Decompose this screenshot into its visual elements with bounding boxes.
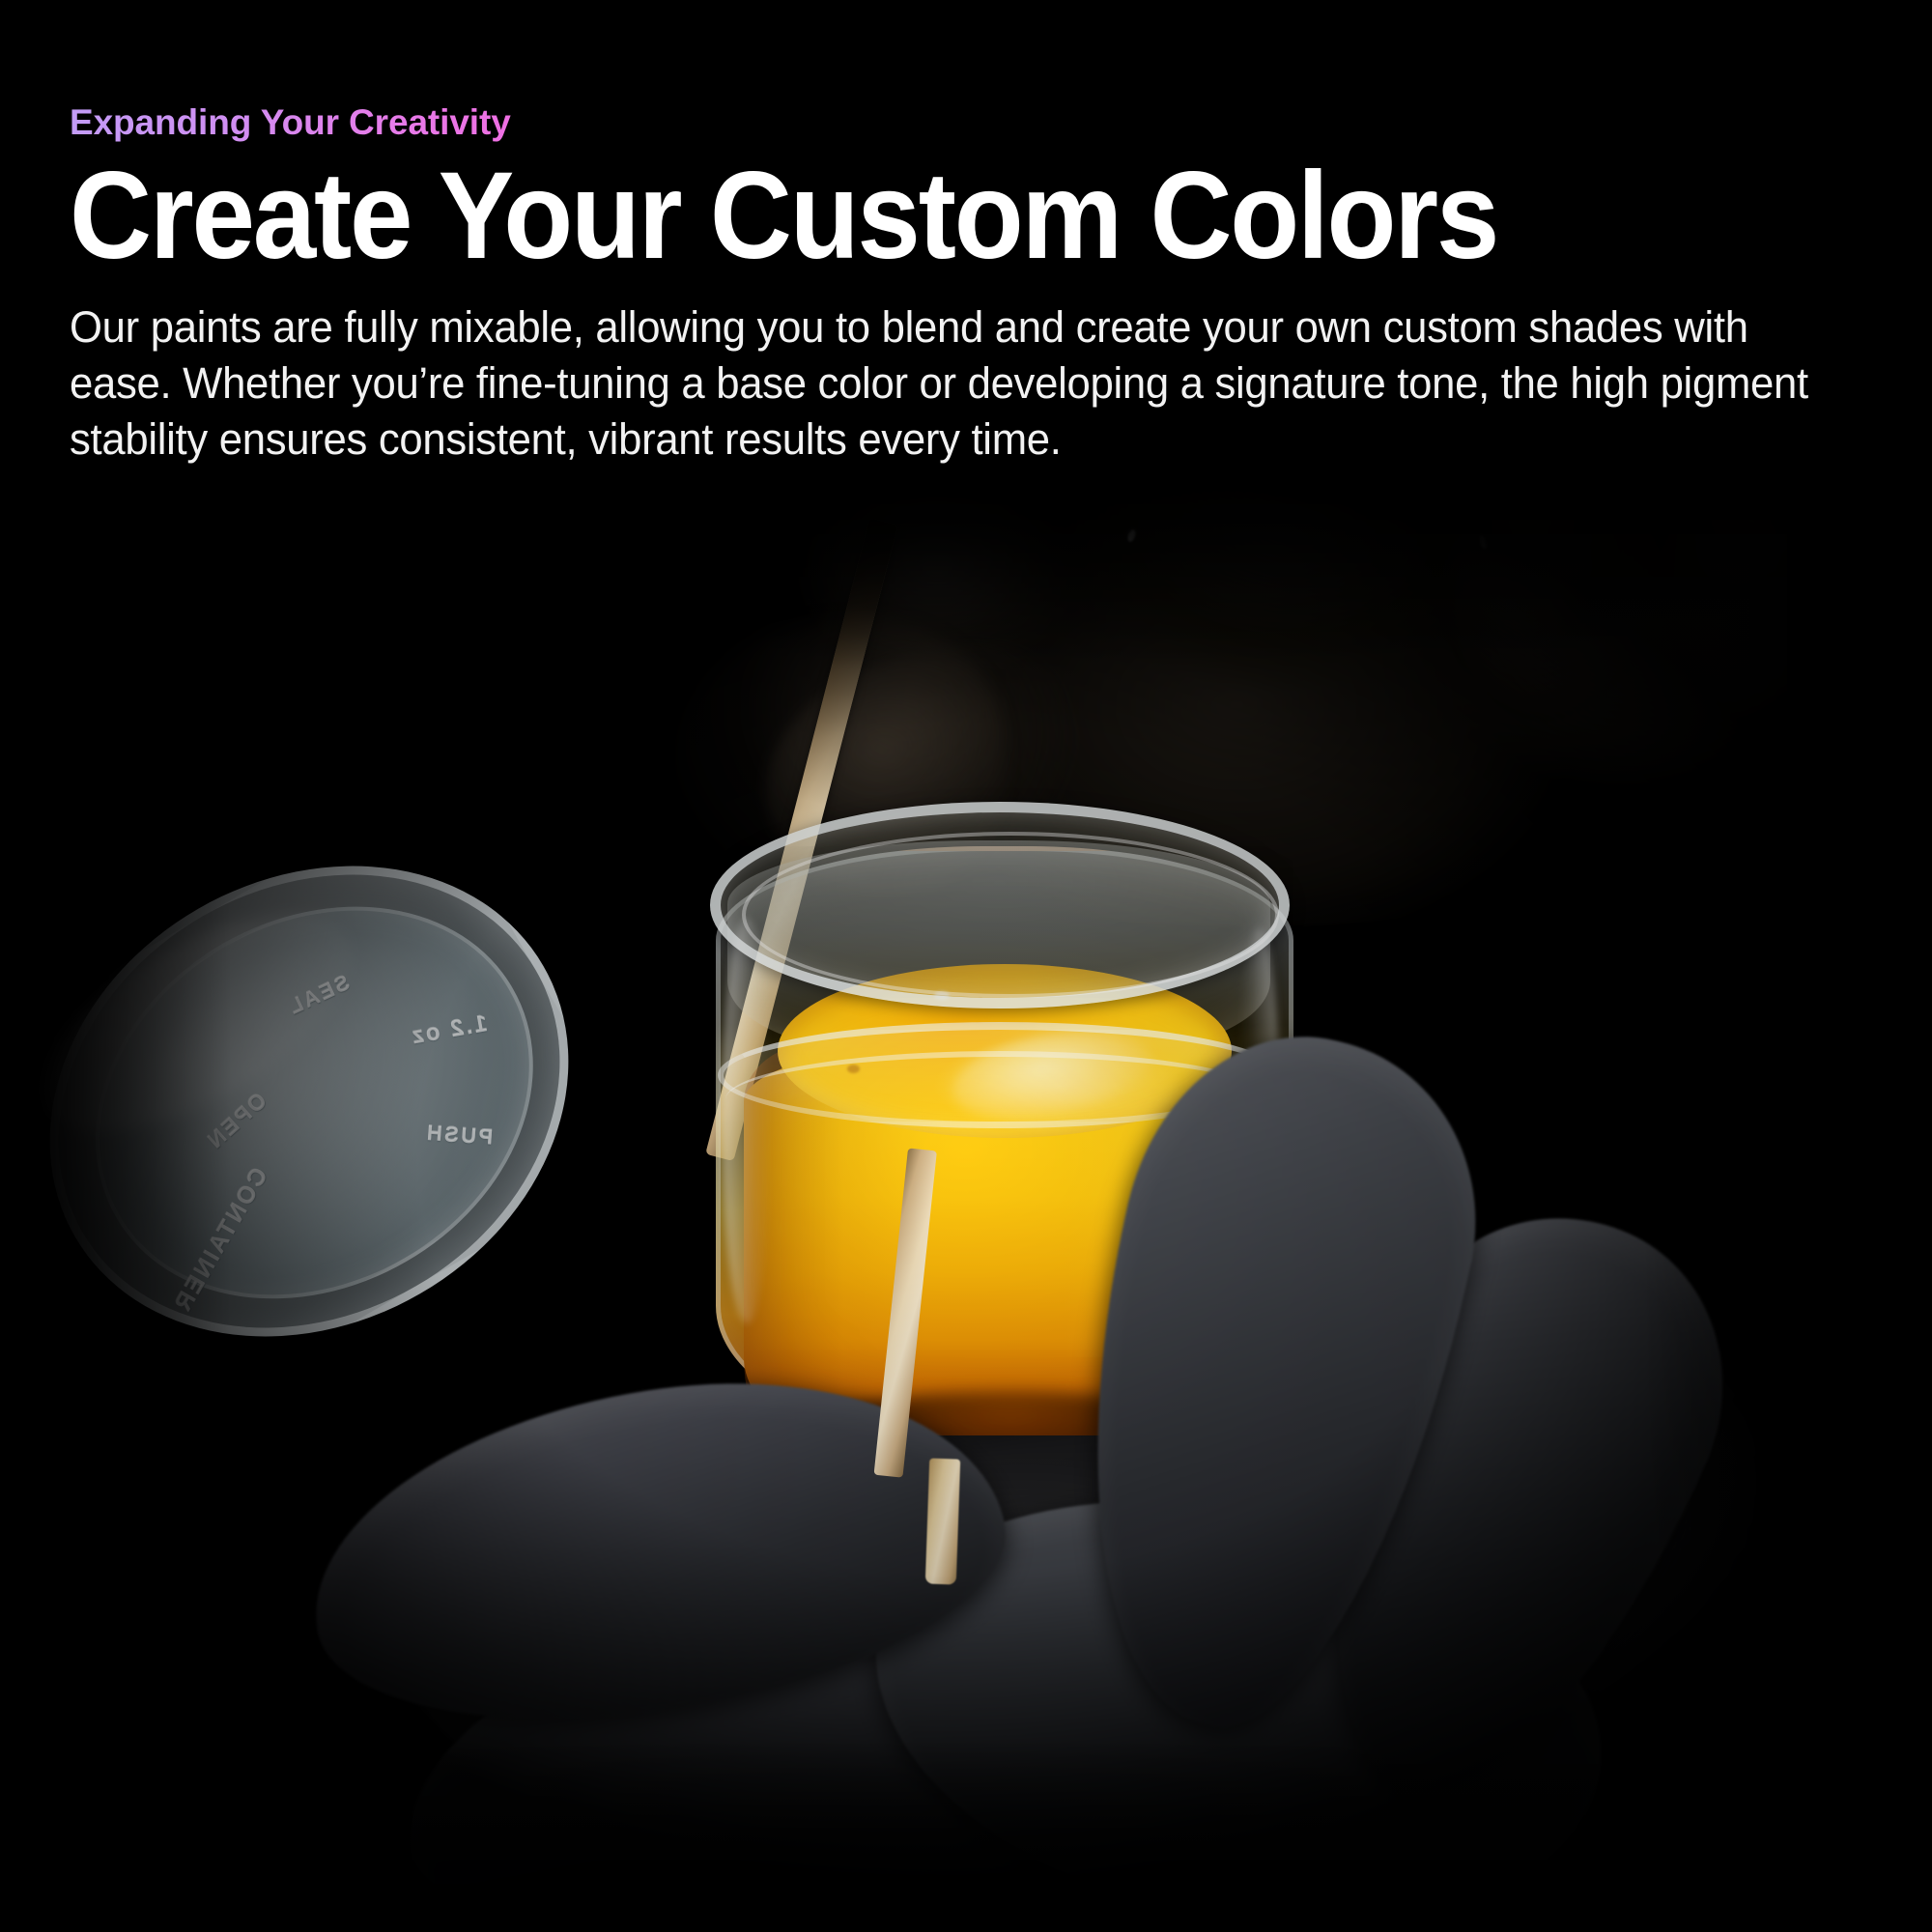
body-paragraph: Our paints are fully mixable, allowing y… bbox=[70, 299, 1840, 467]
cup-highlight-left bbox=[722, 918, 772, 1323]
knuckle-highlight bbox=[1913, 440, 1932, 739]
knuckle-highlight bbox=[1449, 425, 1671, 715]
eyebrow-label: Expanding Your Creativity bbox=[70, 104, 511, 142]
text-block: Expanding Your Creativity Create Your Cu… bbox=[70, 104, 1886, 467]
product-photo: CONTAINER OPEN SEAL 1.2 oz PUSH bbox=[0, 415, 1932, 1932]
slide-canvas: CONTAINER OPEN SEAL 1.2 oz PUSH bbox=[0, 0, 1932, 1932]
cup-rim bbox=[710, 802, 1290, 1009]
wooden-stir-stick-submerged bbox=[925, 1458, 961, 1584]
cup-rim-inner-edge bbox=[742, 832, 1279, 998]
page-title: Create Your Custom Colors bbox=[70, 157, 1741, 275]
